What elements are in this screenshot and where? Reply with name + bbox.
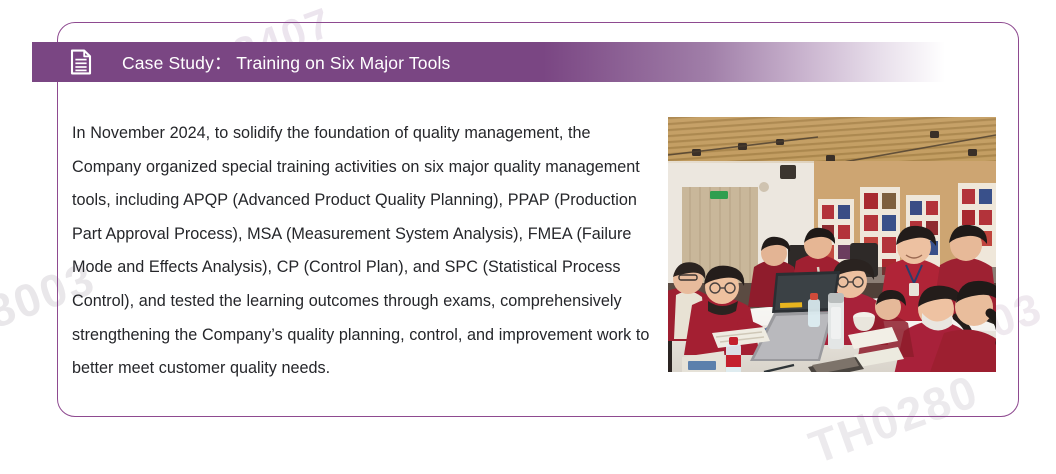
document-icon — [70, 49, 92, 75]
case-study-title: Case Study： Training on Six Major Tools — [122, 50, 450, 75]
case-study-body: In November 2024, to solidify the founda… — [72, 117, 650, 386]
case-study-header: Case Study： Training on Six Major Tools — [32, 42, 945, 82]
case-study-photo — [668, 117, 996, 372]
training-room-photo-illustration — [668, 117, 996, 372]
case-study-paragraph: In November 2024, to solidify the founda… — [72, 117, 650, 386]
